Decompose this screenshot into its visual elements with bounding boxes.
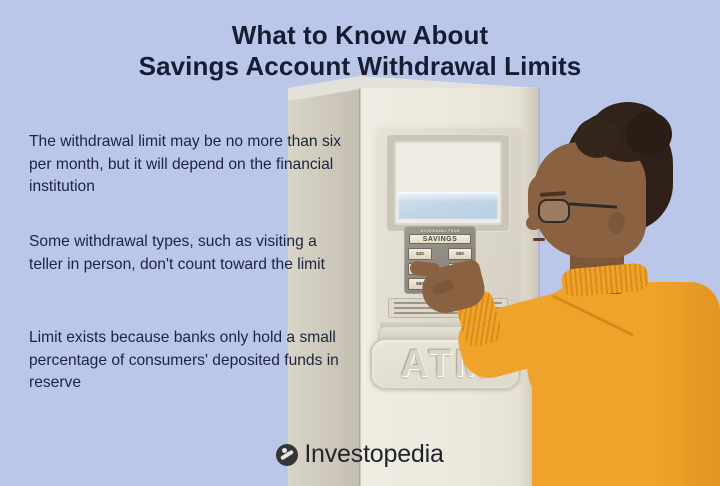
person-illustration	[440, 100, 720, 486]
body-paragraph: The withdrawal limit may be no more than…	[29, 131, 349, 199]
body-text-block: The withdrawal limit may be no more than…	[29, 131, 349, 431]
glasses-icon	[538, 199, 570, 223]
page-title-line-1: What to Know About	[0, 20, 720, 51]
infographic-canvas: WITHDRAWAL FROM SAVINGS $20 $50 $40 $100…	[0, 0, 720, 486]
investopedia-mark-icon	[276, 444, 298, 466]
person-lips	[533, 238, 545, 241]
body-paragraph: Some withdrawal types, such as visiting …	[29, 231, 349, 276]
person-ear	[608, 212, 625, 234]
investopedia-wordmark: Investopedia	[304, 440, 443, 469]
amount-button: $20	[408, 248, 432, 260]
body-paragraph: Limit exists because banks only hold a s…	[29, 327, 349, 395]
person-hair-curl	[575, 118, 619, 158]
investopedia-logo: Investopedia	[0, 440, 720, 469]
person-nose	[526, 216, 540, 230]
page-title-line-2: Savings Account Withdrawal Limits	[0, 51, 720, 82]
person-hair-curl	[626, 112, 672, 156]
page-title: What to Know About Savings Account Withd…	[0, 20, 720, 82]
wall-corner-line	[359, 88, 361, 486]
